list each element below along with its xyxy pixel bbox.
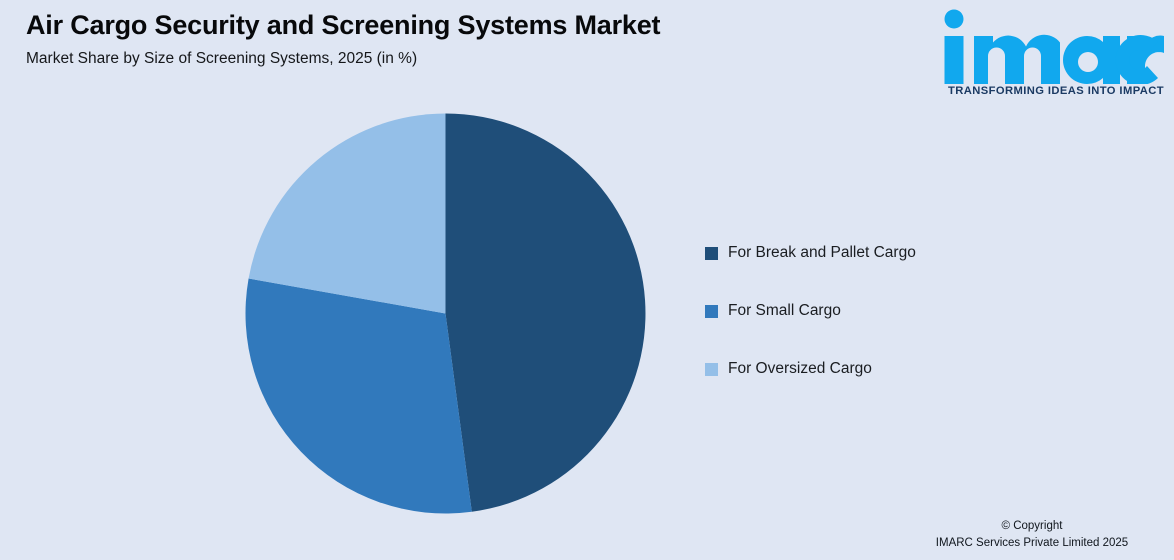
legend-item-small-cargo[interactable]: For Small Cargo [705,298,1035,324]
legend-item-label: For Oversized Cargo [728,359,872,379]
imarc-wordmark-icon [932,6,1164,84]
pie-chart-svg [245,113,646,514]
legend-item-label: For Break and Pallet Cargo [728,243,916,263]
pie-slice[interactable] [249,114,446,314]
legend-swatch-icon [705,363,718,376]
legend-swatch-icon [705,247,718,260]
legend-item-label: For Small Cargo [728,301,841,321]
pie-slice[interactable] [446,114,646,512]
pie-slice[interactable] [246,279,472,514]
legend-swatch-icon [705,305,718,318]
legend-item-break-and-pallet-cargo[interactable]: For Break and Pallet Cargo [705,240,1035,266]
page-title: Air Cargo Security and Screening Systems… [26,8,906,42]
logo-tagline: TRANSFORMING IDEAS INTO IMPACT [924,85,1164,97]
chart-legend: For Break and Pallet Cargo For Small Car… [705,240,1035,414]
chart-page: Air Cargo Security and Screening Systems… [0,0,1174,560]
copyright-line-2: IMARC Services Private Limited 2025 [902,535,1162,552]
legend-item-oversized-cargo[interactable]: For Oversized Cargo [705,356,1035,382]
chart-header: Air Cargo Security and Screening Systems… [26,8,906,70]
copyright-footer: © Copyright IMARC Services Private Limit… [902,518,1162,552]
chart-subtitle: Market Share by Size of Screening System… [26,48,906,70]
copyright-line-1: © Copyright [902,518,1162,535]
imarc-logo: TRANSFORMING IDEAS INTO IMPACT [924,6,1164,106]
pie-chart [245,113,646,514]
